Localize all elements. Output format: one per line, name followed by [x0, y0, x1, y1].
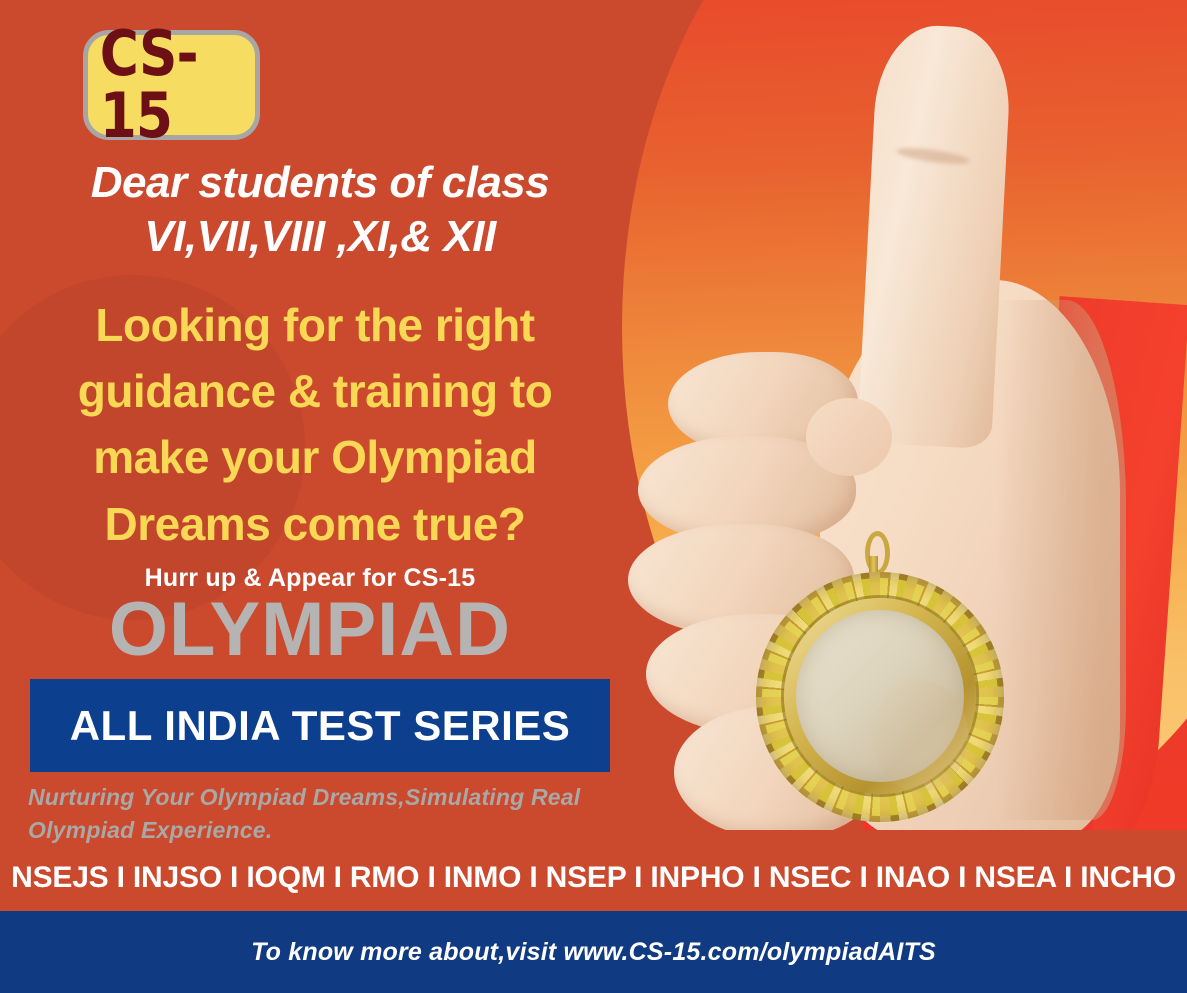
- exam-acronym-list: NSEJS I INJSO I IOQM I RMO I INMO I NSEP…: [11, 861, 1176, 895]
- medal-gloss-highlight: [872, 680, 968, 792]
- footer-bar: To know more about,visit www.CS-15.com/o…: [0, 911, 1187, 993]
- all-india-test-series-label: ALL INDIA TEST SERIES: [70, 702, 571, 750]
- exam-acronym-strip: NSEJS I INJSO I IOQM I RMO I INMO I NSEP…: [0, 845, 1187, 911]
- all-india-test-series-banner: ALL INDIA TEST SERIES: [30, 679, 610, 772]
- olympiad-promo-poster: CS-15 Dear students of class VI,VII,VIII…: [0, 0, 1187, 993]
- hand-fingertip: [806, 398, 892, 476]
- photo-bottom-edge: [610, 830, 1187, 838]
- salutation-line-2: VI,VII,VIII ,XI,& XII: [30, 210, 610, 264]
- olympiad-wordmark: OLYMPIAD: [20, 588, 600, 672]
- hand-thumb: [857, 23, 1013, 449]
- cs-15-badge: CS-15: [83, 30, 260, 140]
- tagline-text: Nurturing Your Olympiad Dreams,Simulatin…: [28, 781, 688, 848]
- salutation-line-1: Dear students of class: [30, 156, 610, 210]
- salutation-block: Dear students of class VI,VII,VIII ,XI,&…: [30, 156, 610, 263]
- footer-website-text: To know more about,visit www.CS-15.com/o…: [251, 938, 936, 967]
- main-headline: Looking for the right guidance & trainin…: [20, 292, 610, 557]
- hand-shading: [996, 300, 1126, 820]
- gold-medal-icon: [756, 572, 1004, 822]
- cs-15-badge-label: CS-15: [100, 23, 244, 147]
